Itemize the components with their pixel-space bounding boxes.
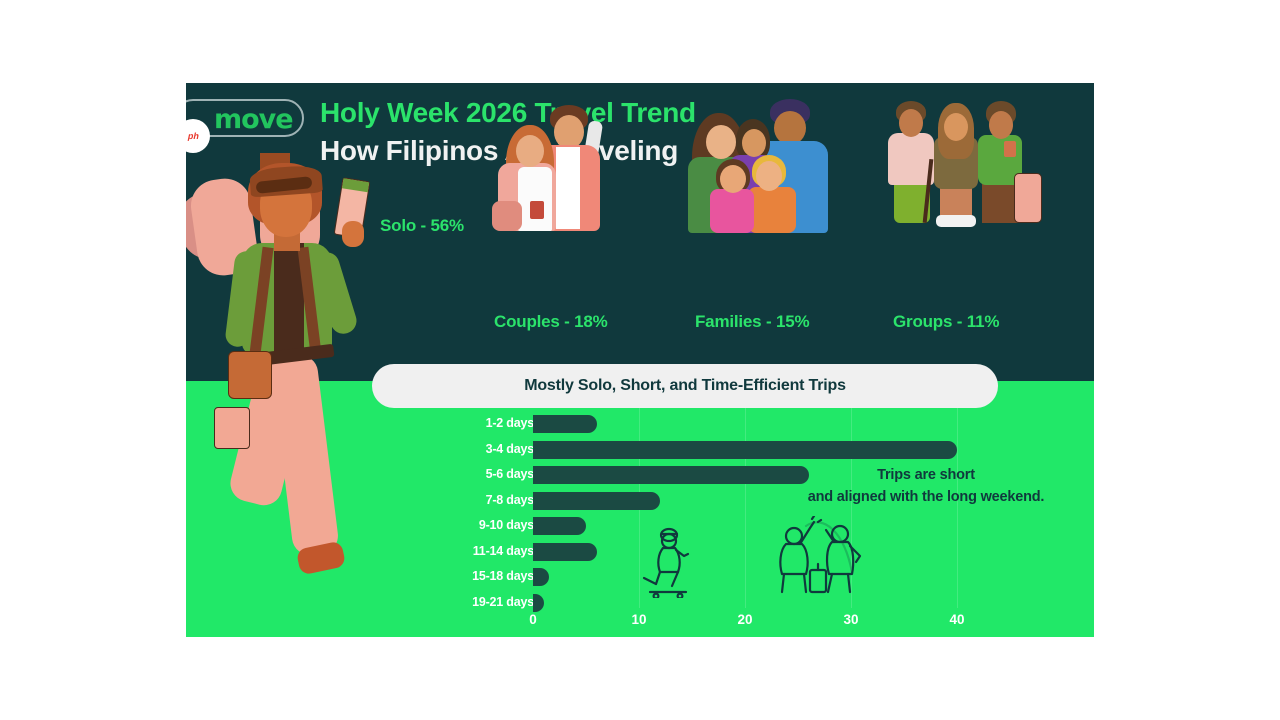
chart-bar [533, 543, 597, 561]
chart-row-label: 1-2 days [354, 416, 534, 430]
x-axis-tick-label: 30 [843, 612, 858, 627]
chart-annotation: Trips are short and aligned with the lon… [776, 464, 1076, 509]
chart-row-label: 7-8 days [354, 493, 534, 507]
chart-row: 3-4 days [186, 438, 1094, 464]
logo-badge-icon: ph [186, 119, 210, 153]
chart-bar [533, 415, 597, 433]
traveler-couple-icon [766, 516, 866, 600]
segment-label-couples: Couples - 18% [494, 312, 608, 332]
logo-badge-text: ph [186, 131, 199, 141]
chart-row: 1-2 days [186, 412, 1094, 438]
chart-bar [533, 441, 957, 459]
x-axis-tick-label: 20 [737, 612, 752, 627]
skateboarder-icon [636, 526, 696, 598]
summary-banner-text: Mostly Solo, Short, and Time-Efficient T… [524, 377, 846, 395]
chart-annotation-line1: Trips are short [776, 464, 1076, 486]
couples-illustration [486, 105, 626, 233]
x-axis-tick-label: 0 [529, 612, 537, 627]
chart-row-label: 3-4 days [354, 442, 534, 456]
chart-bar [533, 517, 586, 535]
infographic-canvas: ph move Holy Week 2026 Travel Trend How … [186, 83, 1094, 637]
chart-row-label: 11-14 days [354, 544, 534, 558]
chart-row-label: 19-21 days [354, 595, 534, 609]
logo-wordmark: move [214, 104, 293, 135]
chart-bar [533, 492, 660, 510]
chart-row-label: 15-18 days [354, 569, 534, 583]
segment-label-groups: Groups - 11% [893, 312, 999, 332]
chart-row-label: 5-6 days [354, 467, 534, 481]
segment-label-solo: Solo - 56% [380, 216, 464, 236]
chart-bar [533, 466, 809, 484]
chart-row-label: 9-10 days [354, 518, 534, 532]
header-band: ph move Holy Week 2026 Travel Trend How … [186, 83, 1094, 381]
chart-x-axis: 010203040 [186, 608, 1094, 636]
x-axis-tick-label: 40 [949, 612, 964, 627]
families-illustration [686, 99, 836, 235]
x-axis-tick-label: 10 [631, 612, 646, 627]
chart-bar [533, 568, 549, 586]
segment-label-families: Families - 15% [695, 312, 809, 332]
chart-annotation-line2: and aligned with the long weekend. [776, 486, 1076, 508]
summary-banner: Mostly Solo, Short, and Time-Efficient T… [372, 364, 998, 408]
trip-duration-chart: 1-2 days3-4 days5-6 days7-8 days9-10 day… [186, 408, 1094, 637]
groups-illustration [886, 97, 1031, 227]
